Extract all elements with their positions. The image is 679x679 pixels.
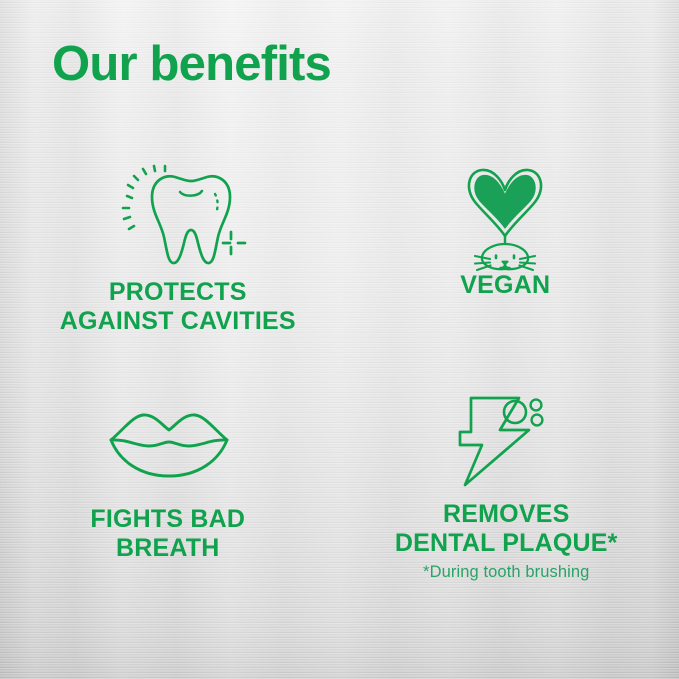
benefit-item-removes-dental-plaque: REMOVES DENTAL PLAQUE* *During tooth bru… <box>340 375 679 590</box>
benefit-label: VEGAN <box>460 271 550 300</box>
lightning-bolt-bubbles-icon <box>453 383 559 495</box>
benefit-label: REMOVES DENTAL PLAQUE* <box>395 500 618 558</box>
benefit-footnote: *During tooth brushing <box>423 562 589 582</box>
bunny-heart-ears-icon <box>449 162 561 274</box>
page-title: Our benefits <box>52 35 331 93</box>
benefit-label: PROTECTS AGAINST CAVITIES <box>60 278 296 336</box>
benefit-item-protects-against-cavities: PROTECTS AGAINST CAVITIES <box>0 160 340 375</box>
lips-icon <box>107 389 231 501</box>
tooth-sparkle-icon <box>114 160 244 272</box>
benefit-item-fights-bad-breath: FIGHTS BAD BREATH <box>0 375 340 590</box>
brushed-metal-background: Our benefits <box>0 0 679 679</box>
benefit-item-vegan: VEGAN <box>340 160 679 375</box>
benefits-grid: PROTECTS AGAINST CAVITIES <box>0 160 679 590</box>
benefit-label: FIGHTS BAD BREATH <box>90 505 245 563</box>
benefits-panel: Our benefits <box>0 0 679 679</box>
